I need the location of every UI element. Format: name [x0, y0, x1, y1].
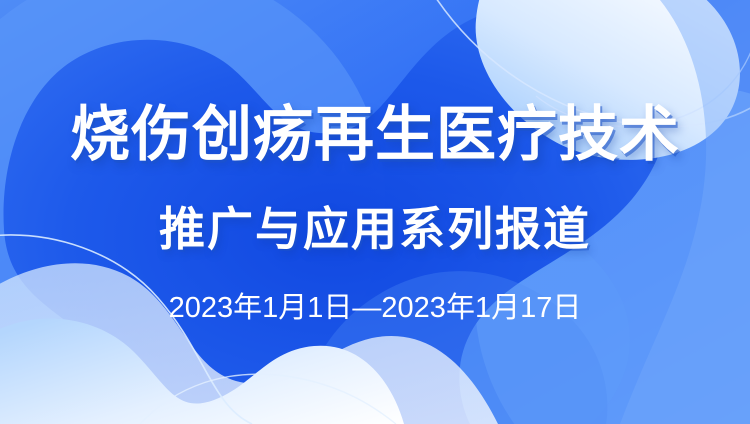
news-banner: 烧伤创疡再生医疗技术 推广与应用系列报道 2023年1月1日—2023年1月17… — [0, 0, 750, 424]
banner-background-art — [0, 0, 750, 424]
